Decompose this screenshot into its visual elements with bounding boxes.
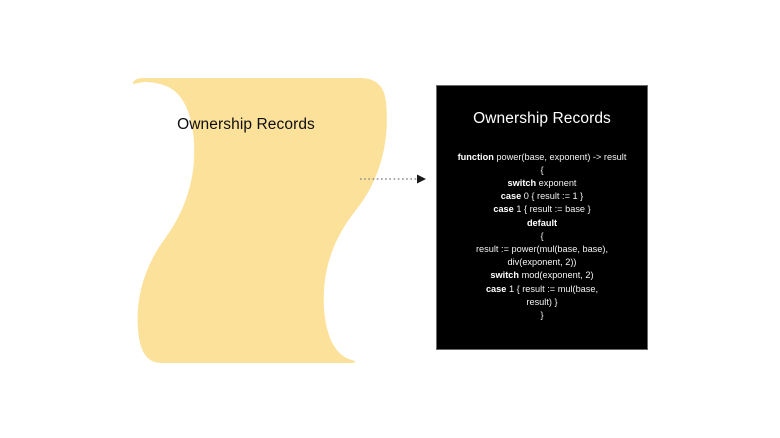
code-panel[interactable]: Ownership Records function power(base, e… — [436, 85, 648, 350]
code-text: div(exponent, 2)) — [508, 257, 577, 267]
code-line: case 0 { result := 1 } — [441, 190, 643, 203]
code-text: mod(exponent, 2) — [522, 270, 594, 280]
code-text: { — [540, 165, 543, 175]
code-line: { — [441, 230, 643, 243]
code-text: exponent — [539, 178, 577, 188]
flow-arrow-head — [417, 175, 426, 184]
diagram-canvas: Ownership Records Ownership Records func… — [0, 0, 780, 438]
code-line: case 1 { result := base } — [441, 203, 643, 216]
code-panel-title: Ownership Records — [437, 110, 647, 129]
code-text: result := power(mul(base, base), — [476, 244, 608, 254]
code-text: result) } — [526, 297, 557, 307]
code-keyword: case — [486, 284, 509, 294]
data-shape-ownership-records[interactable]: Ownership Records — [128, 76, 396, 364]
code-keyword: default — [527, 218, 557, 228]
code-keyword: function — [458, 152, 497, 162]
code-keyword: switch — [508, 178, 539, 188]
code-keyword: case — [501, 191, 524, 201]
code-line: result := power(mul(base, base), — [441, 243, 643, 256]
code-text: 1 { result := mul(base, — [509, 284, 598, 294]
code-text: power(base, exponent) -> result — [496, 152, 626, 162]
code-text: } — [540, 310, 543, 320]
code-text: 0 { result := 1 } — [524, 191, 584, 201]
code-line: result) } — [441, 296, 643, 309]
code-text: 1 { result := base } — [516, 204, 590, 214]
code-line: switch exponent — [441, 177, 643, 190]
code-keyword: case — [493, 204, 516, 214]
code-line: { — [441, 164, 643, 177]
code-line: div(exponent, 2)) — [441, 256, 643, 269]
flow-arrow-icon — [356, 168, 430, 190]
code-line: } — [441, 309, 643, 322]
code-line: switch mod(exponent, 2) — [441, 269, 643, 282]
code-line: function power(base, exponent) -> result — [441, 151, 643, 164]
code-text: { — [540, 231, 543, 241]
code-block: function power(base, exponent) -> result… — [437, 151, 647, 323]
code-line: default — [441, 217, 643, 230]
data-shape-label: Ownership Records — [128, 116, 364, 135]
code-line: case 1 { result := mul(base, — [441, 283, 643, 296]
code-keyword: switch — [490, 270, 521, 280]
flow-arrow[interactable] — [356, 168, 430, 190]
